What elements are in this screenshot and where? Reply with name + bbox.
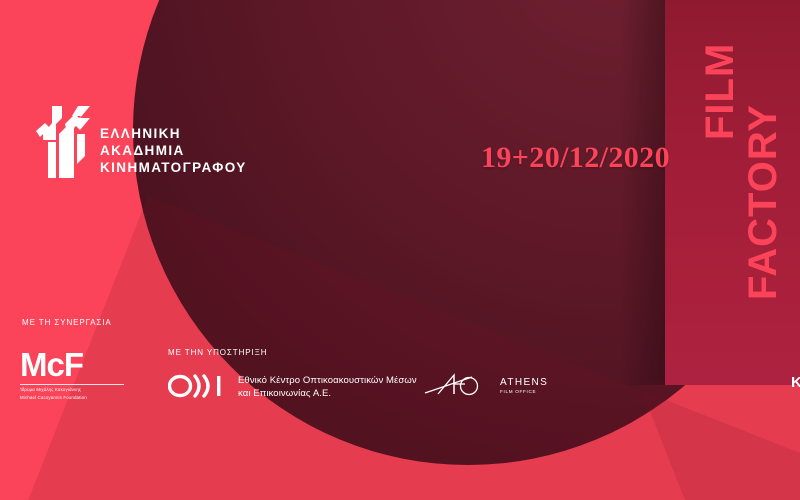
- hellenic-film-academy-logo: ΕΛΛΗΝΙΚΗ ΑΚΑΔΗΜΙΑ ΚΙΝΗΜΑΤΟΓΡΑΦΟΥ: [34, 104, 224, 188]
- title-factory: FACTORY: [743, 104, 783, 300]
- ekome-line-1: Εθνικό Κέντρο Οπτικοακουστικών Μέσων: [238, 375, 417, 388]
- ekome-logo: Εθνικό Κέντρο Οπτικοακουστικών Μέσων και…: [168, 372, 388, 406]
- academy-line-3: ΚΙΝΗΜΑΤΟΓΡΑΦΟΥ: [100, 159, 247, 176]
- mcf-divider: [20, 384, 124, 385]
- afo-logo: ATHENS FILM OFFICE: [424, 372, 544, 400]
- academy-wordmark: ΕΛΛΗΝΙΚΗ ΑΚΑΔΗΜΙΑ ΚΙΝΗΜΑΤΟΓΡΑΦΟΥ: [100, 125, 247, 176]
- clipped-edge-glyph: K: [791, 375, 800, 390]
- collaboration-kicker: ΜΕ ΤΗ ΣΥΝΕΡΓΑΣΙΑ: [22, 318, 112, 327]
- ekome-logo-mark-icon: [168, 373, 226, 399]
- event-date: 19+20/12/2020: [481, 141, 670, 175]
- vertical-title-group: FILM FACTORY: [665, 0, 800, 385]
- mcf-logo: McF Ίδρυμα Μιχάλης Κακογιάννης Michael C…: [20, 348, 128, 394]
- afo-logo-mark-icon: [424, 372, 496, 398]
- afo-line-2: FILM OFFICE: [500, 388, 548, 395]
- film-academy-branches-icon: [34, 104, 96, 180]
- poster-canvas: ΕΛΛΗΝΙΚΗ ΑΚΑΔΗΜΙΑ ΚΙΝΗΜΑΤΟΓΡΑΦΟΥ 19+20/1…: [0, 0, 800, 500]
- title-film: FILM: [700, 43, 740, 140]
- mcf-subtitle-english: Michael Cacoyannis Foundation: [20, 395, 128, 401]
- band-cast-shadow: [620, 0, 668, 385]
- academy-line-2: ΑΚΑΔΗΜΙΑ: [100, 142, 247, 159]
- ekome-line-2: και Επικοινωνίας Α.Ε.: [238, 388, 417, 401]
- afo-line-1: ATHENS: [500, 377, 548, 388]
- support-kicker: ΜΕ ΤΗΝ ΥΠΟΣΤΗΡΙΞΗ: [168, 348, 267, 357]
- mcf-subtitle-greek: Ίδρυμα Μιχάλης Κακογιάννης: [20, 387, 128, 393]
- afo-wordmark: ATHENS FILM OFFICE: [500, 377, 548, 395]
- academy-line-1: ΕΛΛΗΝΙΚΗ: [100, 125, 247, 142]
- ekome-wordmark: Εθνικό Κέντρο Οπτικοακουστικών Μέσων και…: [238, 375, 417, 400]
- mcf-wordmark: McF: [20, 348, 128, 381]
